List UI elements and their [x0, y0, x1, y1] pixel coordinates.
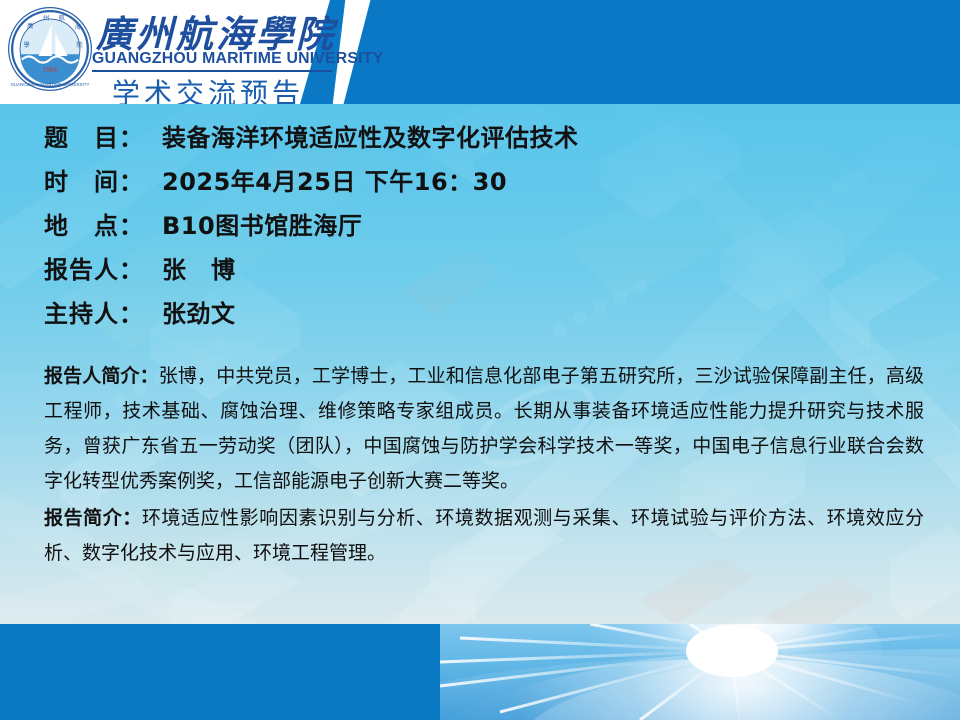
- poster-content: 题 目： 装备海洋环境适应性及数字化评估技术 时 间： 2025年4月25日 下…: [0, 104, 960, 624]
- svg-text:海: 海: [75, 23, 81, 31]
- info-row-location: 地 点： B10图书馆胜海厅: [44, 206, 924, 250]
- info-value-speaker: 张 博: [162, 250, 236, 285]
- info-value-location: B10图书馆胜海厅: [162, 206, 362, 241]
- svg-text:學: 學: [24, 41, 30, 49]
- poster-footer: [0, 624, 960, 720]
- sunburst-rays-icon: [440, 624, 960, 720]
- abstract-text: 环境适应性影响因素识别与分析、环境数据观测与采集、环境试验与评价方法、环境效应分…: [44, 507, 924, 564]
- university-seal-icon: 1964 廣州 航海 學院 GUANGZHOU MARITIME UNIVERS…: [6, 5, 94, 93]
- info-label-host: 主持人：: [44, 294, 162, 329]
- svg-text:廣: 廣: [27, 22, 33, 30]
- event-info-list: 题 目： 装备海洋环境适应性及数字化评估技术 时 间： 2025年4月25日 下…: [44, 118, 924, 338]
- svg-text:GUANGZHOU MARITIME UNIVERSITY: GUANGZHOU MARITIME UNIVERSITY: [11, 82, 90, 87]
- speaker-bio-label: 报告人简介：: [44, 365, 159, 387]
- abstract-label: 报告简介：: [44, 507, 142, 529]
- university-name-en: GUANGZHOU MARITIME UNIVERSITY: [92, 50, 383, 68]
- info-label-title: 题 目：: [44, 118, 162, 153]
- info-row-time: 时 间： 2025年4月25日 下午16：30: [44, 162, 924, 206]
- info-label-location: 地 点：: [44, 206, 162, 241]
- speaker-bio-text: 张博，中共党员，工学博士，工业和信息化部电子第五研究所，三沙试验保障副主任，高级…: [44, 365, 924, 492]
- info-value-title: 装备海洋环境适应性及数字化评估技术: [162, 118, 579, 153]
- svg-text:院: 院: [76, 41, 82, 49]
- seal-year: 1964: [43, 66, 58, 74]
- info-value-host: 张劲文: [162, 294, 236, 329]
- info-row-host: 主持人： 张劲文: [44, 294, 924, 338]
- info-row-speaker: 报告人： 张 博: [44, 250, 924, 294]
- footer-sky: [440, 624, 960, 720]
- speaker-bio-paragraph: 报告人简介：张博，中共党员，工学博士，工业和信息化部电子第五研究所，三沙试验保障…: [44, 359, 924, 499]
- announcement-poster: 1964 廣州 航海 學院 GUANGZHOU MARITIME UNIVERS…: [0, 0, 960, 720]
- info-label-speaker: 报告人：: [44, 250, 162, 285]
- svg-text:州: 州: [43, 15, 49, 22]
- svg-text:航: 航: [59, 14, 65, 22]
- header-subtitle: 学术交流预告: [112, 72, 304, 104]
- info-value-time: 2025年4月25日 下午16：30: [162, 162, 507, 197]
- info-row-title: 题 目： 装备海洋环境适应性及数字化评估技术: [44, 118, 924, 162]
- info-label-time: 时 间：: [44, 162, 162, 197]
- poster-header: 1964 廣州 航海 學院 GUANGZHOU MARITIME UNIVERS…: [0, 0, 960, 104]
- bio-section: 报告人简介：张博，中共党员，工学博士，工业和信息化部电子第五研究所，三沙试验保障…: [44, 359, 924, 573]
- abstract-paragraph: 报告简介：环境适应性影响因素识别与分析、环境数据观测与采集、环境试验与评价方法、…: [44, 501, 924, 571]
